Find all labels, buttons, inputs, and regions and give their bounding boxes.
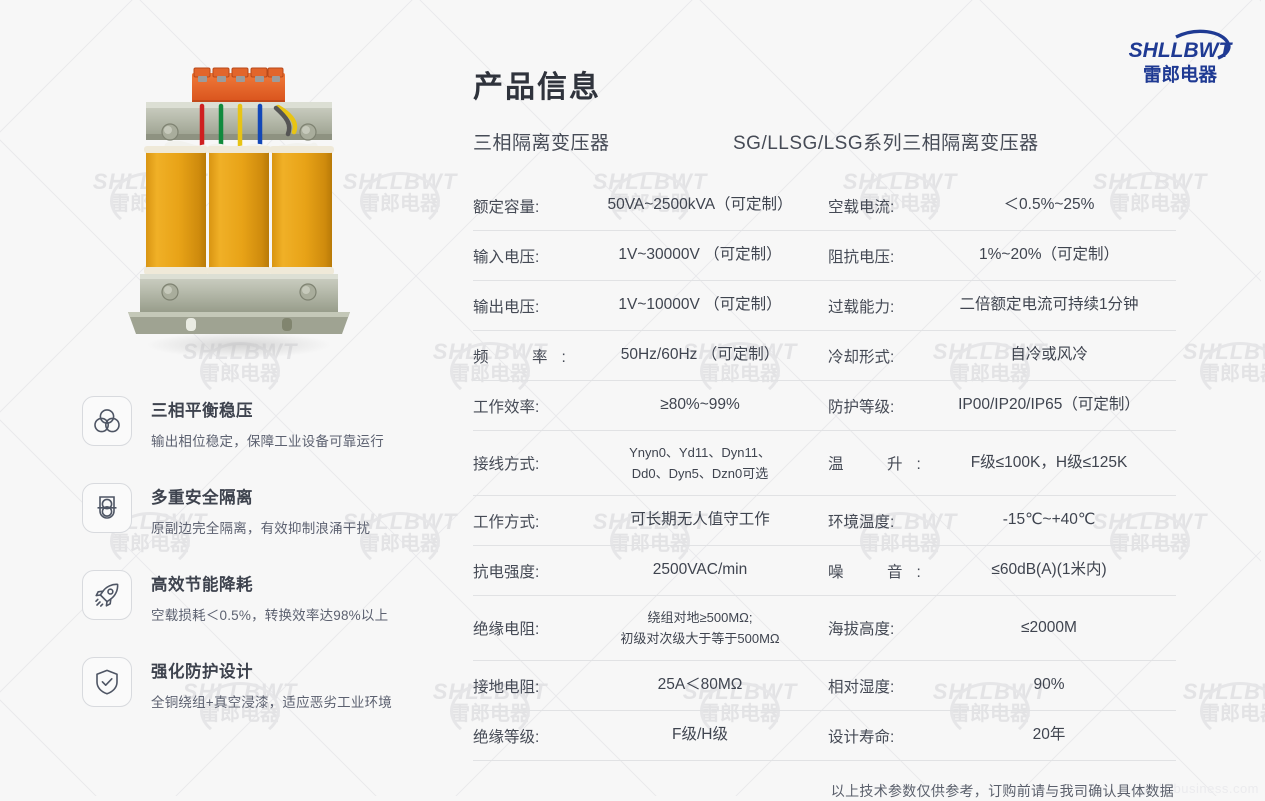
spec-label: 输入电压: (473, 245, 578, 267)
spec-label: 冷却形式: (828, 345, 928, 367)
spec-value: 自冷或风冷 (928, 344, 1176, 366)
spec-value: 可长期无人值守工作 (578, 509, 828, 531)
spec-label: 相对湿度: (828, 675, 928, 697)
spec-cell-b: 环境温度:-15℃~+40℃ (828, 496, 1176, 545)
page-title: 产品信息 (473, 62, 1176, 106)
feature-title: 三相平衡稳压 (151, 397, 384, 421)
feature-title: 强化防护设计 (151, 658, 392, 682)
spec-value: Ynyn0、Yd11、Dyn11、Dd0、Dyn5、Dzn0可选 (578, 442, 828, 485)
spec-value: 90% (928, 674, 1176, 696)
spec-row: 绝缘等级:F级/H级设计寿命:20年 (473, 711, 1176, 761)
spec-row: 输出电压:1V~10000V （可定制）过载能力:二倍额定电流可持续1分钟 (473, 281, 1176, 331)
spec-value: ≤2000M (928, 617, 1176, 639)
spec-label: 过载能力: (828, 295, 928, 317)
feature-title: 高效节能降耗 (151, 571, 388, 595)
spec-label: 阻抗电压: (828, 245, 928, 267)
spec-cell-b: 防护等级:IP00/IP20/IP65（可定制） (828, 381, 1176, 430)
spec-value: F级≤100K，H级≤125K (928, 452, 1176, 474)
spec-cell-a: 输入电压:1V~30000V （可定制） (473, 231, 828, 280)
spec-label: 绝缘等级: (473, 725, 578, 747)
spec-label: 海拔高度: (828, 617, 928, 639)
spec-value: 50VA~2500kVA（可定制） (578, 194, 828, 216)
spec-label: 噪 音: (828, 560, 928, 582)
feature-list: 三相平衡稳压 输出相位稳定，保障工业设备可靠运行 多重安全隔离 原副边完全隔离，… (82, 396, 482, 744)
spec-label: 工作效率: (473, 395, 578, 417)
feature-item-1: 多重安全隔离 原副边完全隔离，有效抑制浪涌干扰 (82, 483, 482, 570)
feature-item-2: 高效节能降耗 空载损耗＜0.5%，转换效率达98%以上 (82, 570, 482, 657)
spec-cell-a: 接线方式:Ynyn0、Yd11、Dyn11、Dd0、Dyn5、Dzn0可选 (473, 431, 828, 495)
base-frame (128, 274, 350, 334)
feature-desc: 输出相位稳定，保障工业设备可靠运行 (151, 430, 384, 450)
spec-label: 接地电阻: (473, 675, 578, 697)
spec-cell-a: 接地电阻:25A＜80MΩ (473, 661, 828, 710)
spec-value: F级/H级 (578, 724, 828, 746)
spec-row: 接地电阻:25A＜80MΩ相对湿度:90% (473, 661, 1176, 711)
spec-cell-b: 空载电流:＜0.5%~25% (828, 181, 1176, 230)
specification-table: 额定容量:50VA~2500kVA（可定制）空载电流:＜0.5%~25%输入电压… (473, 181, 1176, 761)
spec-cell-b: 温 升:F级≤100K，H级≤125K (828, 431, 1176, 495)
spec-cell-a: 频 率:50Hz/60Hz （可定制） (473, 331, 828, 380)
spec-value: 50Hz/60Hz （可定制） (578, 344, 828, 366)
coils (144, 146, 334, 275)
spec-cell-a: 绝缘等级:F级/H级 (473, 711, 828, 760)
feature-item-0: 三相平衡稳压 输出相位稳定，保障工业设备可靠运行 (82, 396, 482, 483)
spec-row: 工作效率:≥80%~99%防护等级:IP00/IP20/IP65（可定制） (473, 381, 1176, 431)
disclaimer-text: 以上技术参数仅供参考，订购前请与我司确认具体数据 (473, 781, 1176, 801)
three-circles-icon (82, 396, 132, 446)
feature-title: 多重安全隔离 (151, 484, 370, 508)
spec-cell-b: 相对湿度:90% (828, 661, 1176, 710)
spec-label: 输出电压: (473, 295, 578, 317)
spec-value: IP00/IP20/IP65（可定制） (928, 394, 1176, 416)
spec-label: 绝缘电阻: (473, 617, 578, 639)
spec-value: ≤60dB(A)(1米内) (928, 559, 1176, 581)
spec-label: 频 率: (473, 345, 578, 367)
spec-cell-b: 海拔高度:≤2000M (828, 596, 1176, 660)
spec-row: 额定容量:50VA~2500kVA（可定制）空载电流:＜0.5%~25% (473, 181, 1176, 231)
rocket-icon (82, 570, 132, 620)
shield-check-icon (82, 657, 132, 707)
spec-label: 防护等级: (828, 395, 928, 417)
spec-cell-a: 工作方式:可长期无人值守工作 (473, 496, 828, 545)
subtitle-right: SG/LLSG/LSG系列三相隔离变压器 (733, 128, 1176, 155)
spec-row: 频 率:50Hz/60Hz （可定制）冷却形式:自冷或风冷 (473, 331, 1176, 381)
spec-cell-a: 额定容量:50VA~2500kVA（可定制） (473, 181, 828, 230)
spec-label: 空载电流: (828, 195, 928, 217)
spec-value: ＜0.5%~25% (928, 194, 1176, 216)
spec-label: 额定容量: (473, 195, 578, 217)
feature-item-3: 强化防护设计 全铜绕组+真空浸漆，适应恶劣工业环境 (82, 657, 482, 744)
spec-value: 2500VAC/min (578, 559, 828, 581)
product-info-panel: 产品信息 三相隔离变压器 SG/LLSG/LSG系列三相隔离变压器 额定容量:5… (473, 62, 1176, 801)
spec-cell-a: 工作效率:≥80%~99% (473, 381, 828, 430)
feature-desc: 空载损耗＜0.5%，转换效率达98%以上 (151, 604, 388, 624)
spec-row: 接线方式:Ynyn0、Yd11、Dyn11、Dd0、Dyn5、Dzn0可选温 升… (473, 431, 1176, 496)
spec-cell-b: 设计寿命:20年 (828, 711, 1176, 760)
spec-cell-b: 冷却形式:自冷或风冷 (828, 331, 1176, 380)
spec-label: 环境温度: (828, 510, 928, 532)
spec-value: ≥80%~99% (578, 394, 828, 416)
spec-value: 绕组对地≥500MΩ;初级对次级大于等于500MΩ (578, 607, 828, 650)
transformer-illustration (108, 62, 370, 362)
spec-cell-b: 过载能力:二倍额定电流可持续1分钟 (828, 281, 1176, 330)
spec-value: 二倍额定电流可持续1分钟 (928, 294, 1176, 316)
spec-value: 1V~30000V （可定制） (578, 244, 828, 266)
subtitle-left: 三相隔离变压器 (473, 128, 733, 155)
spec-cell-a: 输出电压:1V~10000V （可定制） (473, 281, 828, 330)
logo-en-text: SHLLBWT (1129, 39, 1234, 62)
isolation-icon (82, 483, 132, 533)
spec-label: 抗电强度: (473, 560, 578, 582)
spec-row: 输入电压:1V~30000V （可定制）阻抗电压:1%~20%（可定制） (473, 231, 1176, 281)
spec-label: 工作方式: (473, 510, 578, 532)
spec-value: 1%~20%（可定制） (928, 244, 1176, 266)
spec-label: 温 升: (828, 452, 928, 474)
spec-value: 25A＜80MΩ (578, 674, 828, 696)
spec-value: -15℃~+40℃ (928, 509, 1176, 531)
spec-cell-a: 绝缘电阻:绕组对地≥500MΩ;初级对次级大于等于500MΩ (473, 596, 828, 660)
spec-cell-b: 噪 音:≤60dB(A)(1米内) (828, 546, 1176, 595)
spec-cell-b: 阻抗电压:1%~20%（可定制） (828, 231, 1176, 280)
spec-row: 绝缘电阻:绕组对地≥500MΩ;初级对次级大于等于500MΩ海拔高度:≤2000… (473, 596, 1176, 661)
spec-value: 20年 (928, 724, 1176, 746)
product-photo (108, 62, 370, 362)
spec-row: 抗电强度:2500VAC/min噪 音:≤60dB(A)(1米内) (473, 546, 1176, 596)
spec-row: 工作方式:可长期无人值守工作环境温度:-15℃~+40℃ (473, 496, 1176, 546)
subtitle-row: 三相隔离变压器 SG/LLSG/LSG系列三相隔离变压器 (473, 128, 1176, 155)
spec-label: 接线方式: (473, 452, 578, 474)
spec-value: 1V~10000V （可定制） (578, 294, 828, 316)
spec-label: 设计寿命: (828, 725, 928, 747)
feature-desc: 全铜绕组+真空浸漆，适应恶劣工业环境 (151, 691, 392, 711)
feature-desc: 原副边完全隔离，有效抑制浪涌干扰 (151, 517, 370, 537)
spec-cell-a: 抗电强度:2500VAC/min (473, 546, 828, 595)
